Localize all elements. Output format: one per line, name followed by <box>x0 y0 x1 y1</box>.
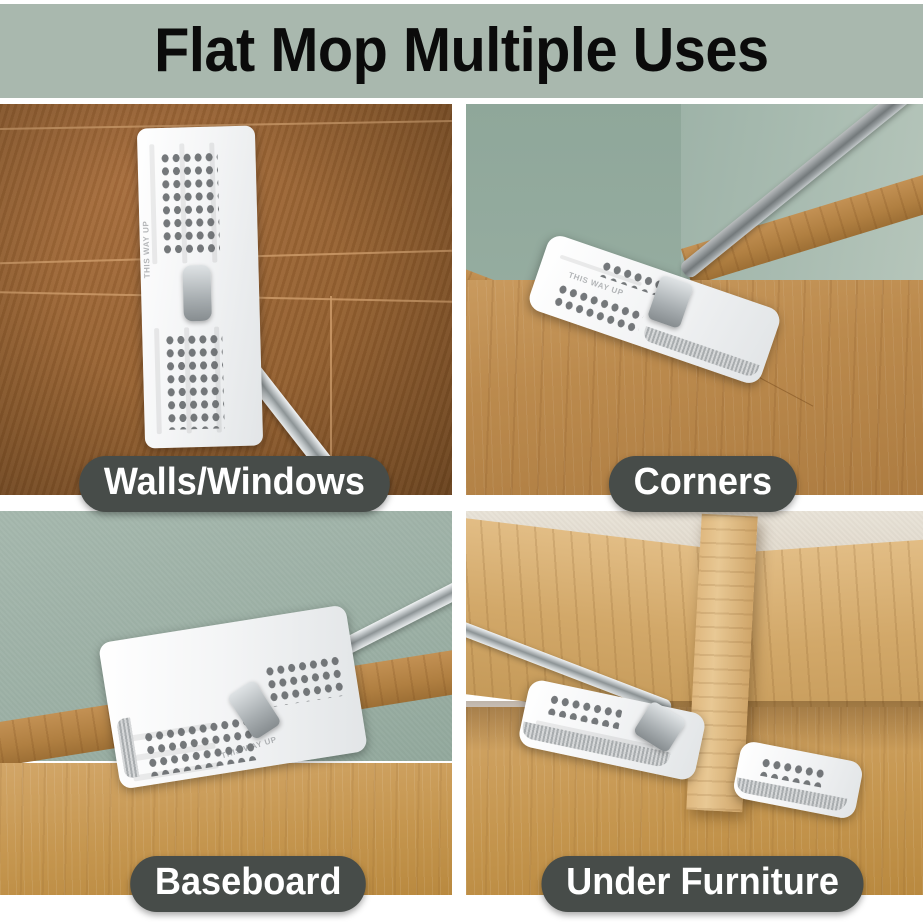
panel-corners[interactable]: THIS WAY UP <box>466 104 923 495</box>
mop-swivel-joint <box>182 265 211 322</box>
label-baseboard: Baseboard <box>130 856 366 912</box>
mop-orientation-text: THIS WAY UP <box>141 221 152 279</box>
page-title: Flat Mop Multiple Uses <box>154 20 768 82</box>
label-under-furniture: Under Furniture <box>541 856 863 912</box>
mop-head: THIS WAY UP <box>137 126 263 449</box>
header-banner: Flat Mop Multiple Uses <box>0 4 923 98</box>
mop-pad <box>116 717 139 778</box>
label-corners: Corners <box>609 456 797 512</box>
mop-perforations <box>164 332 224 429</box>
label-walls-windows: Walls/Windows <box>79 456 389 512</box>
mop-rib <box>154 328 162 434</box>
mop-perforations <box>264 654 346 707</box>
panel-baseboard[interactable]: THIS WAY UP <box>0 511 452 895</box>
panel-under-furniture[interactable] <box>466 511 923 895</box>
mop-perforations <box>159 150 220 255</box>
panel-walls-windows[interactable]: THIS WAY UP <box>0 104 452 495</box>
